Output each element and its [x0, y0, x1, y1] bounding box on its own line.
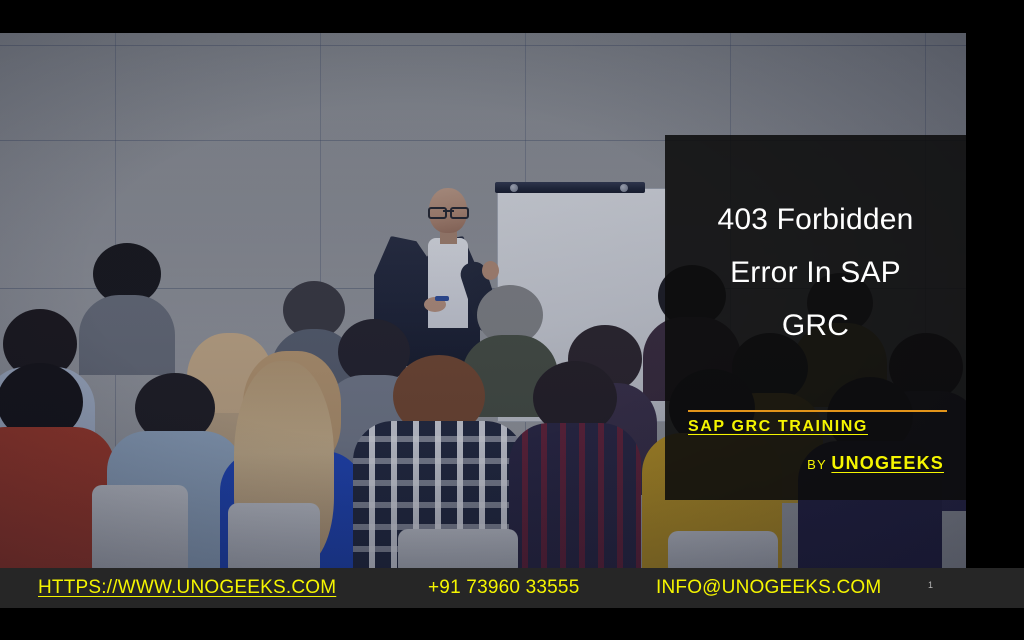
title-line-2: Error In SAP [665, 246, 966, 299]
website-link[interactable]: HTTPS://WWW.UNOGEEKS.COM [38, 577, 336, 599]
title-line-3: GRC [665, 299, 966, 352]
page-number: 1 [928, 580, 933, 590]
byline-label: BY [807, 457, 827, 472]
email-address: INFO@UNOGEEKS.COM [656, 577, 881, 599]
footer-bar: HTTPS://WWW.UNOGEEKS.COM +91 73960 33555… [0, 568, 1024, 608]
title-panel: 403 Forbidden Error In SAP GRC SAP GRC T… [665, 135, 966, 500]
byline: BY UNOGEEKS [807, 453, 944, 474]
title-line-1: 403 Forbidden [665, 193, 966, 246]
slide-canvas: 403 Forbidden Error In SAP GRC SAP GRC T… [0, 0, 1024, 640]
brand-name: UNOGEEKS [831, 453, 944, 473]
accent-divider [688, 410, 947, 412]
phone-number: +91 73960 33555 [428, 577, 579, 599]
course-subtitle: SAP GRC TRAINING [688, 418, 868, 436]
slide-title: 403 Forbidden Error In SAP GRC [665, 193, 966, 352]
